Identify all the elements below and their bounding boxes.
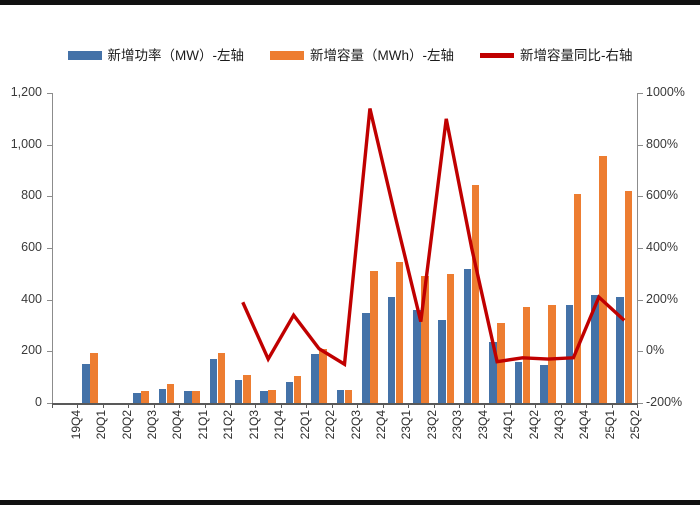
x-axis-tick-label: 22Q2 (324, 410, 336, 439)
x-axis-tick-label: 21Q2 (222, 410, 234, 439)
x-axis-tick (561, 403, 562, 408)
x-axis-tick (434, 403, 435, 408)
y-axis-right-tick (638, 196, 643, 197)
x-axis-tick-label: 25Q2 (629, 410, 641, 439)
x-axis-tick (612, 403, 613, 408)
y-axis-right-tick (638, 351, 643, 352)
x-axis-tick (255, 403, 256, 408)
x-axis-tick-label: 21Q3 (248, 410, 260, 439)
x-axis-tick (154, 403, 155, 408)
x-axis-tick (77, 403, 78, 408)
y-axis-right-tick-label: 200% (646, 293, 678, 306)
x-axis-tick-label: 24Q2 (528, 410, 540, 439)
x-axis-tick (586, 403, 587, 408)
y-axis-right-tick-label: 400% (646, 241, 678, 254)
x-axis-tick (510, 403, 511, 408)
y-axis-left-tick-label: 1,200 (11, 86, 42, 99)
chart-page: 新增功率（MW）-左轴新增容量（MWh）-左轴新增容量同比-右轴 0200400… (0, 0, 700, 505)
x-axis-tick-label: 22Q4 (375, 410, 387, 439)
x-axis-tick-label: 24Q3 (553, 410, 565, 439)
x-axis-tick (459, 403, 460, 408)
x-axis-tick-label: 22Q3 (350, 410, 362, 439)
x-axis-tick (535, 403, 536, 408)
y-axis-right-tick-label: 0% (646, 344, 664, 357)
y-axis-right-tick (638, 403, 643, 404)
y-axis-left-tick-label: 200 (21, 344, 42, 357)
x-axis-tick (52, 403, 53, 408)
chart-area: 02004006008001,0001,200 -200%0%200%400%6… (0, 5, 700, 510)
x-axis-tick (637, 403, 638, 408)
y-axis-right-tick-label: 600% (646, 189, 678, 202)
y-axis-right-tick-label: 1000% (646, 86, 685, 99)
x-axis-tick (332, 403, 333, 408)
x-axis-tick-label: 19Q4 (70, 410, 82, 439)
x-axis-tick-label: 20Q1 (95, 410, 107, 439)
x-axis-tick-label: 20Q3 (146, 410, 158, 439)
y-axis-left-tick-label: 0 (35, 396, 42, 409)
y-axis-right-tick-label: -200% (646, 396, 682, 409)
y-axis-left-tick-label: 400 (21, 293, 42, 306)
x-axis-tick-label: 23Q3 (451, 410, 463, 439)
x-axis-tick (383, 403, 384, 408)
x-axis-tick (103, 403, 104, 408)
x-axis-tick-label: 21Q4 (273, 410, 285, 439)
x-axis-tick (306, 403, 307, 408)
x-axis-tick-label: 21Q1 (197, 410, 209, 439)
x-axis-tick (128, 403, 129, 408)
line-capacity-yoy (243, 109, 625, 365)
x-axis-tick (179, 403, 180, 408)
x-axis-tick-label: 24Q1 (502, 410, 514, 439)
x-axis-tick (408, 403, 409, 408)
x-axis-tick-label: 23Q2 (426, 410, 438, 439)
y-axis-right-tick-label: 800% (646, 138, 678, 151)
y-axis-left-tick-label: 800 (21, 189, 42, 202)
x-axis-tick-label: 25Q1 (604, 410, 616, 439)
line-series-layer (52, 93, 637, 403)
x-axis-line (52, 403, 638, 405)
x-axis-tick (281, 403, 282, 408)
x-axis-tick (230, 403, 231, 408)
x-axis-tick-label: 20Q2 (121, 410, 133, 439)
y-axis-left-tick-label: 1,000 (11, 138, 42, 151)
x-axis-tick (205, 403, 206, 408)
x-axis-tick (484, 403, 485, 408)
y-axis-right-tick (638, 145, 643, 146)
x-axis-tick (357, 403, 358, 408)
y-axis-right-tick (638, 248, 643, 249)
x-axis-tick-label: 22Q1 (299, 410, 311, 439)
x-axis-tick-label: 20Q4 (171, 410, 183, 439)
y-axis-right-tick (638, 300, 643, 301)
x-axis-tick-label: 23Q1 (400, 410, 412, 439)
x-axis-tick-label: 24Q4 (578, 410, 590, 439)
x-axis-tick-label: 23Q4 (477, 410, 489, 439)
y-axis-right-tick (638, 93, 643, 94)
y-axis-left-tick-label: 600 (21, 241, 42, 254)
